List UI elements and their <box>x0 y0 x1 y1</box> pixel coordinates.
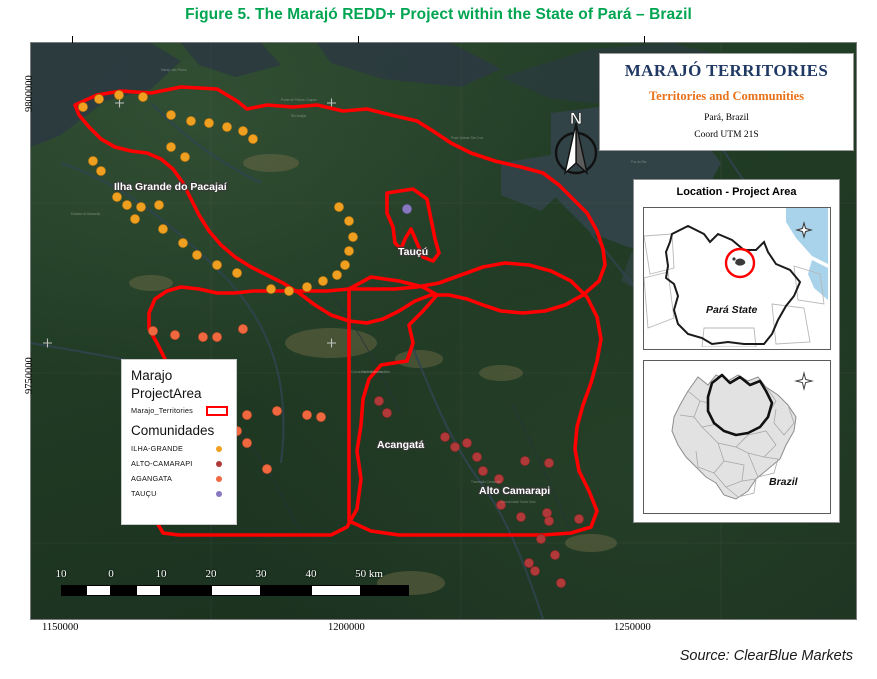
scale-tick-6: 50 km <box>355 568 383 580</box>
map-label-alto-camarapi: Alto Camarapi <box>479 485 550 497</box>
north-arrow-icon: N <box>554 105 598 183</box>
legend-item-taucu[interactable]: TAUÇU <box>131 486 228 501</box>
legend-dot-taucu <box>216 491 222 497</box>
axis-x-tickmark <box>644 36 645 43</box>
legend-item-project-area-label: Marajo_Territories <box>131 406 193 415</box>
scale-tick-5: 40 <box>306 568 317 580</box>
inset-panel: Location - Project Area <box>633 179 840 523</box>
inset-map-para[interactable]: Pará State <box>643 207 831 350</box>
legend-label-taucu: TAUÇU <box>131 489 157 498</box>
scale-tick-2: 10 <box>156 568 167 580</box>
scale-bar-blocks: 10 0 10 20 30 40 50 km <box>61 585 409 596</box>
svg-text:Rio Anajás: Rio Anajás <box>291 114 307 118</box>
svg-text:Foz do Rio: Foz do Rio <box>631 160 647 164</box>
map-label-taucu: Tauçú <box>398 246 428 258</box>
legend-title-line2: ProjectArea <box>131 385 236 402</box>
axis-x-tickmark <box>72 36 73 43</box>
title-card-subtitle: Territories and Communities <box>600 89 853 104</box>
axis-x-tick-1150000: 1150000 <box>42 622 78 633</box>
svg-text:Marajó das Flores: Marajó das Flores <box>161 68 187 72</box>
legend-label-alto-camarapi: ALTO-CAMARAPI <box>131 459 193 468</box>
svg-text:Estrada do Macacão: Estrada do Macacão <box>71 212 100 216</box>
map-label-ilha-grande: Ilha Grande do Pacajaí <box>114 181 227 193</box>
legend-label-ilha-grande: ILHA-GRANDE <box>131 444 183 453</box>
scale-tick-4: 30 <box>256 568 267 580</box>
legend-item-agangata[interactable]: AGANGATA <box>131 471 228 486</box>
source-attribution: Source: ClearBlue Markets <box>680 648 853 664</box>
markers-taucu <box>402 204 411 213</box>
map-frame[interactable]: Marajó das Flores Ponta de Pedras Chapéu… <box>30 42 857 620</box>
scale-tick-3: 20 <box>206 568 217 580</box>
svg-text:Vila Marinho do Vale: Vila Marinho do Vale <box>361 370 390 374</box>
map-legend[interactable]: Marajo ProjectArea Marajo_Territories Co… <box>121 359 237 525</box>
axis-x-tick-1200000: 1200000 <box>328 622 365 633</box>
page-title: Figure 5. The Marajó REDD+ Project withi… <box>0 6 877 24</box>
legend-item-project-area[interactable]: Marajo_Territories <box>131 403 228 418</box>
legend-title-line1: Marajo <box>131 367 236 384</box>
legend-swatch-project-area <box>206 406 228 416</box>
legend-item-alto-camarapi[interactable]: ALTO-CAMARAPI <box>131 456 228 471</box>
axis-x-tick-1250000: 1250000 <box>614 622 651 633</box>
inset-map-brazil[interactable]: Brazil <box>643 360 831 514</box>
axis-x-tickmark <box>358 36 359 43</box>
legend-dot-alto-camarapi <box>216 461 222 467</box>
title-card-coords: Coord UTM 21S <box>600 130 853 140</box>
legend-heading-communities: Comunidades <box>131 422 236 439</box>
legend-label-agangata: AGANGATA <box>131 474 172 483</box>
inset-caption-para: Pará State <box>706 304 757 316</box>
axis-y-tick-9750000: 9750000 <box>24 357 35 394</box>
svg-text:Travessão Camarapi: Travessão Camarapi <box>471 480 501 484</box>
inset-caption-brazil: Brazil <box>769 476 798 488</box>
svg-text:Comunidade Santo Dias: Comunidade Santo Dias <box>501 500 536 504</box>
axis-y-tick-9800000: 9800000 <box>24 75 35 112</box>
legend-dot-agangata <box>216 476 222 482</box>
scale-tick-1: 0 <box>108 568 114 580</box>
svg-text:Ponta de Pedras Chapéu: Ponta de Pedras Chapéu <box>281 98 317 102</box>
map-label-acangata: Acangatá <box>377 439 424 451</box>
map-title-card: MARAJÓ TERRITORIES Territories and Commu… <box>599 53 854 151</box>
svg-text:Praia Salinas Sta Cruz: Praia Salinas Sta Cruz <box>451 136 483 140</box>
title-card-location: Pará, Brazil <box>600 113 853 123</box>
legend-item-ilha-grande[interactable]: ILHA-GRANDE <box>131 441 228 456</box>
title-card-main: MARAJÓ TERRITORIES <box>600 61 853 81</box>
inset-heading: Location - Project Area <box>634 186 839 198</box>
scale-bar: 10 0 10 20 30 40 50 km <box>61 585 409 596</box>
legend-dot-ilha-grande <box>216 446 222 452</box>
scale-tick-0: 10 <box>56 568 67 580</box>
